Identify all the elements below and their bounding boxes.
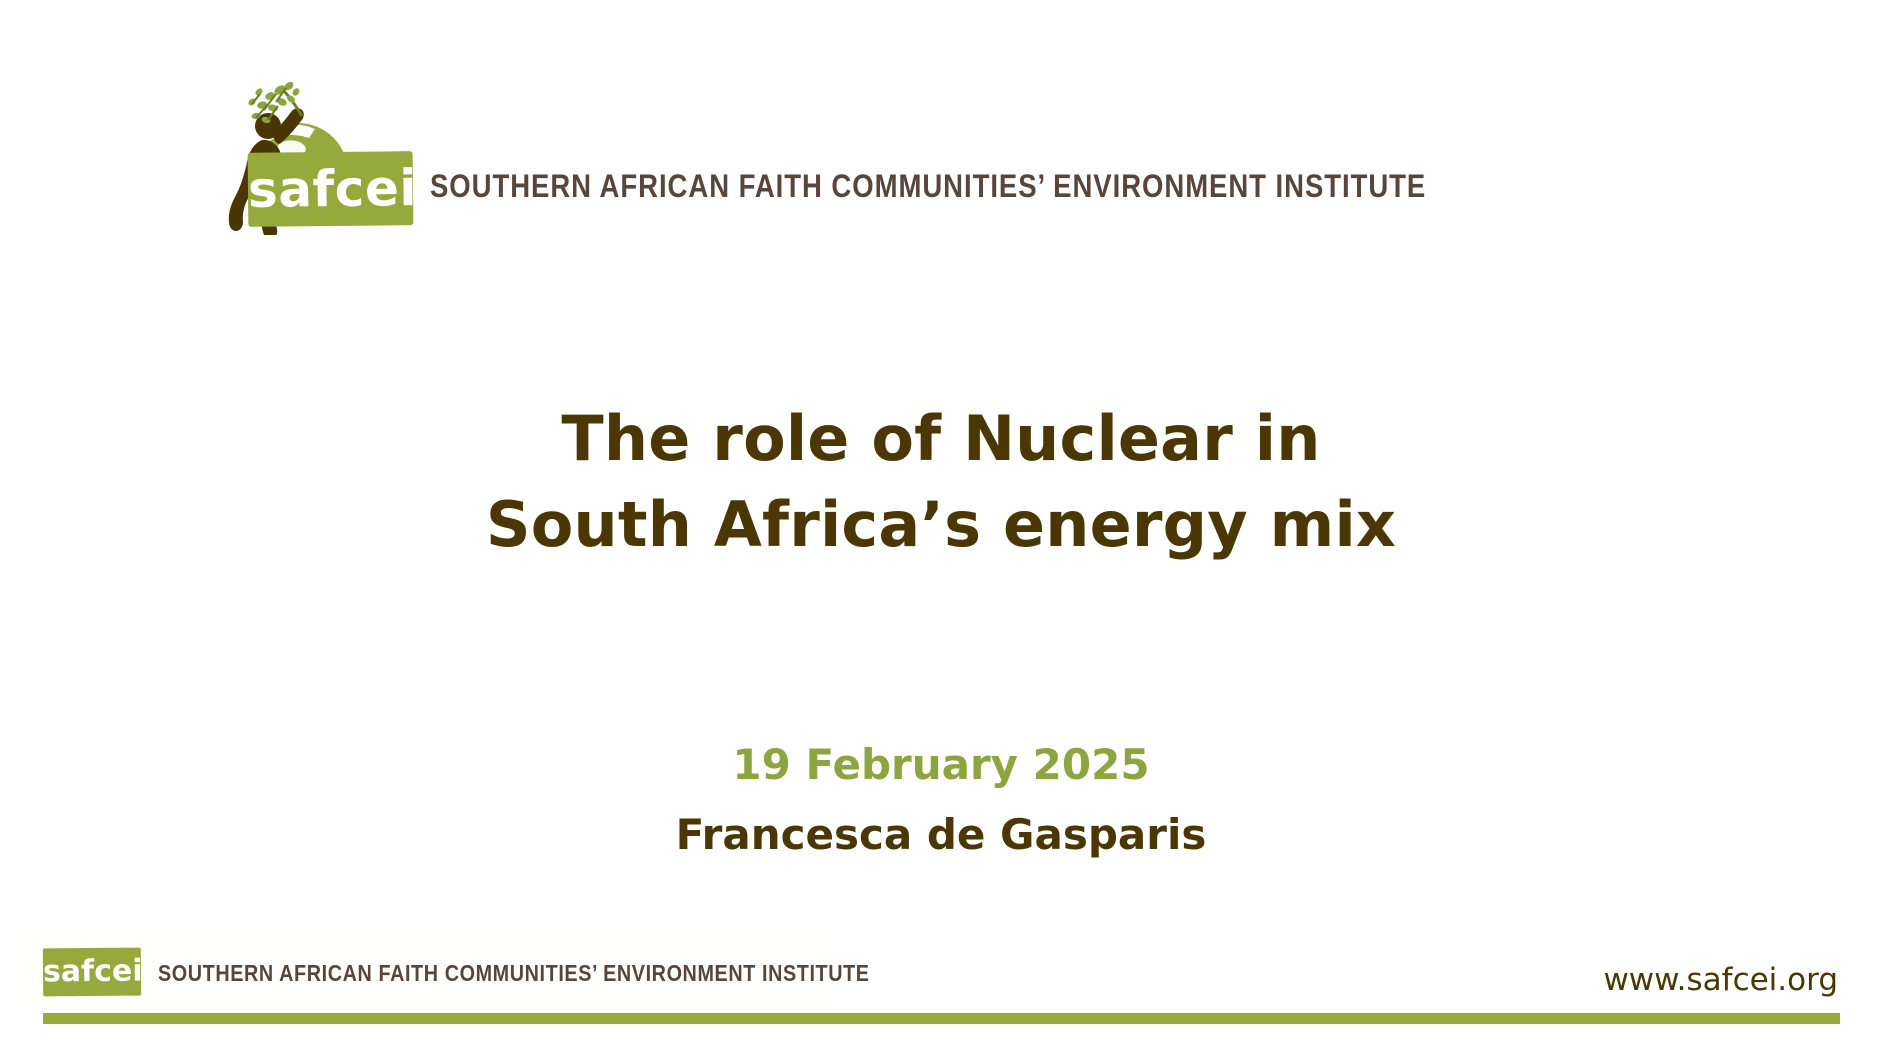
organisation-full-name: SOUTHERN AFRICAN FAITH COMMUNITIES’ ENVI…	[430, 168, 1426, 205]
website-url[interactable]: www.safcei.org	[1603, 962, 1838, 998]
page-title-line-2: South Africa’s energy mix	[0, 482, 1882, 568]
footer-divider-rule	[43, 1013, 1840, 1024]
safcei-wordmark-badge: safcei	[248, 151, 414, 227]
presenter-name: Francesca de Gasparis	[0, 810, 1882, 859]
page-title-line-1: The role of Nuclear in	[0, 396, 1882, 482]
safcei-wordmark-text: safcei	[248, 151, 414, 227]
page-title: The role of Nuclear in South Africa’s en…	[0, 396, 1882, 568]
footer-safcei-wordmark-text: safcei	[43, 948, 141, 997]
footer-organisation-full-name: SOUTHERN AFRICAN FAITH COMMUNITIES’ ENVI…	[158, 960, 870, 987]
footer-safcei-wordmark-badge: safcei	[43, 948, 141, 997]
presentation-date: 19 February 2025	[0, 740, 1882, 789]
presentation-slide: safcei SOUTHERN AFRICAN FAITH COMMUNITIE…	[0, 0, 1882, 1060]
slide-header: safcei SOUTHERN AFRICAN FAITH COMMUNITIE…	[190, 70, 1490, 240]
